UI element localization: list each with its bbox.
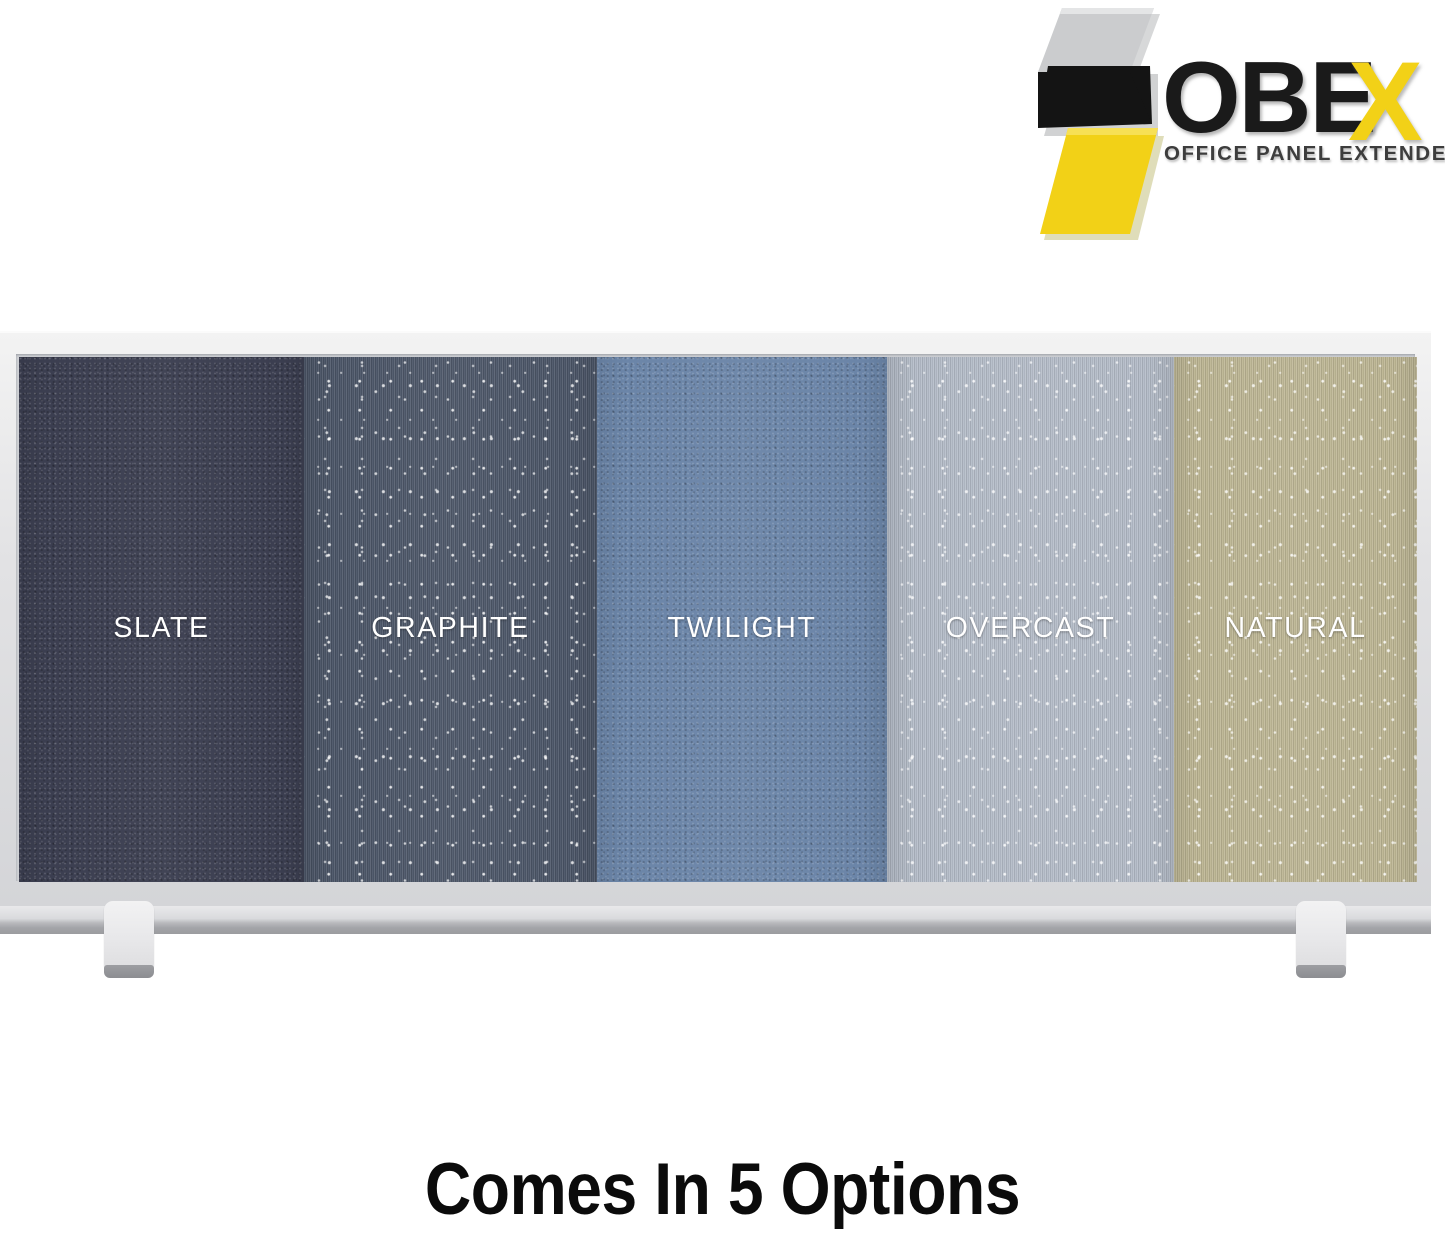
fabric-swatch-twilight[interactable]: TWILIGHT	[597, 357, 887, 882]
swatch-label-twilight: TWILIGHT	[668, 612, 817, 645]
brand-tagline: OFFICE PANEL EXTENDERS	[1164, 144, 1445, 165]
swatch-label-slate: SLATE	[113, 612, 209, 645]
fabric-swatch-slate[interactable]: SLATE	[19, 357, 304, 882]
panel-mounting-clip-left	[104, 901, 154, 969]
fabric-swatch-graphite[interactable]: GRAPHITE	[304, 357, 597, 882]
caption-text: Comes In 5 Options	[87, 1148, 1359, 1231]
panel-mounting-clip-right	[1296, 901, 1346, 969]
panel-extender-product: SLATE GRAPHITE TWILIGHT OVERCAST	[0, 331, 1431, 981]
brand-logo: OBE X OFFICE PANEL EXTENDERS	[1032, 4, 1432, 244]
fabric-swatch-natural[interactable]: NATURAL	[1174, 357, 1417, 882]
swatch-label-graphite: GRAPHITE	[371, 612, 530, 645]
wordmark-obe: OBE	[1162, 48, 1375, 149]
fabric-swatch-overcast[interactable]: OVERCAST	[887, 357, 1174, 882]
swatch-label-natural: NATURAL	[1224, 612, 1366, 645]
obex-chevron-mark-icon	[1032, 4, 1164, 242]
panel-bottom-rail	[0, 906, 1431, 934]
swatch-label-overcast: OVERCAST	[946, 612, 1116, 645]
fabric-swatch-strip: SLATE GRAPHITE TWILIGHT OVERCAST	[19, 357, 1417, 882]
panel-frame: SLATE GRAPHITE TWILIGHT OVERCAST	[0, 331, 1431, 907]
obex-wordmark: OBE X OFFICE PANEL EXTENDERS	[1150, 46, 1440, 206]
